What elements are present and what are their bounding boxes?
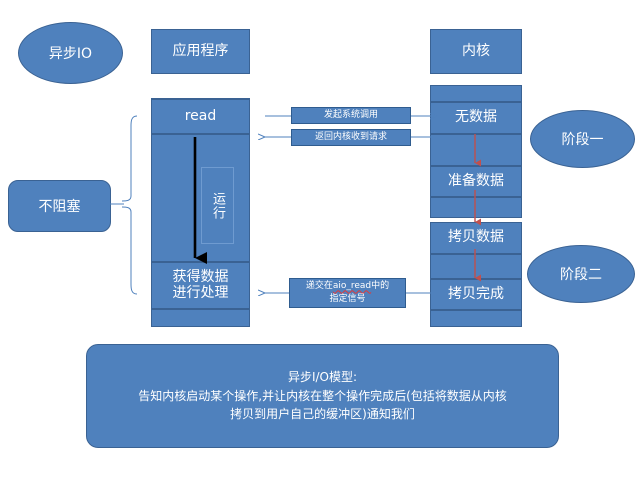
kernel-cell-copy-data-label: 拷贝数据 (448, 230, 504, 246)
badge-nonblocking-label: 不阻塞 (39, 196, 81, 216)
kernel-cell-gap-3 (430, 254, 522, 279)
chip-signal: 递交在aio_read中的 指定信号 (289, 278, 406, 308)
badge-async-io: 异步IO (18, 22, 123, 84)
app-running-label: 运行 (211, 192, 224, 220)
kernel-cell-no-data-label: 无数据 (455, 110, 497, 126)
kernel-cell-bottom-spacer (430, 310, 522, 327)
app-cell-process-data-label: 获得数据 进行处理 (173, 270, 229, 301)
badge-phase-one: 阶段一 (530, 110, 635, 168)
chip-kernel-ack-label: 返回内核收到请求 (315, 132, 387, 143)
diagram-canvas: 异步IO 不阻塞 阶段一 阶段二 应用程序 read 获得数据 进行处理 运行 … (0, 0, 642, 480)
kernel-column-header: 内核 (430, 29, 522, 74)
badge-async-io-label: 异步IO (49, 43, 92, 63)
kernel-cell-prepare-data: 准备数据 (430, 166, 522, 197)
kernel-cell-copy-data: 拷贝数据 (430, 222, 522, 254)
kernel-column-header-label: 内核 (462, 44, 490, 60)
chip-signal-line1: 递交在aio_read中的 (306, 281, 389, 292)
caption-line-2: 告知内核启动某个操作,并让内核在整个操作完成后(包括将数据从内核 (138, 387, 507, 406)
kernel-cell-gap-2 (430, 197, 522, 218)
chip-syscall: 发起系统调用 (291, 107, 411, 124)
kernel-cell-gap-1 (430, 134, 522, 166)
kernel-cell-no-data: 无数据 (430, 102, 522, 134)
chip-signal-line2: 指定信号 (329, 294, 365, 305)
kernel-cell-copy-done-label: 拷贝完成 (448, 287, 504, 303)
app-cell-bottom-spacer (151, 309, 250, 327)
caption-line-1: 异步I/O模型: (288, 368, 357, 387)
caption-box: 异步I/O模型: 告知内核启动某个操作,并让内核在整个操作完成后(包括将数据从内… (86, 344, 559, 448)
kernel-cell-copy-done: 拷贝完成 (430, 279, 522, 310)
kernel-cell-top-spacer (430, 85, 522, 102)
chip-kernel-ack: 返回内核收到请求 (291, 129, 411, 146)
chip-syscall-label: 发起系统调用 (324, 110, 378, 121)
badge-nonblocking: 不阻塞 (8, 180, 111, 232)
chip-signal-code: aio_read (333, 281, 371, 291)
app-cell-read: read (151, 99, 250, 134)
kernel-cell-prepare-data-label: 准备数据 (448, 174, 504, 190)
badge-phase-two-label: 阶段二 (560, 264, 602, 284)
app-cell-read-label: read (185, 109, 217, 125)
badge-phase-two: 阶段二 (527, 245, 635, 303)
badge-phase-one-label: 阶段一 (562, 129, 604, 149)
app-column-header-label: 应用程序 (173, 44, 229, 60)
app-column-header: 应用程序 (151, 29, 250, 74)
app-running-box: 运行 (201, 167, 234, 244)
app-cell-process-data: 获得数据 进行处理 (151, 262, 250, 309)
chip-signal-suffix: 中的 (371, 281, 389, 291)
caption-line-3: 拷贝到用户自己的缓冲区)通知我们 (230, 405, 415, 424)
brace-nonblocking (110, 116, 137, 294)
chip-signal-prefix: 递交在 (306, 281, 333, 291)
